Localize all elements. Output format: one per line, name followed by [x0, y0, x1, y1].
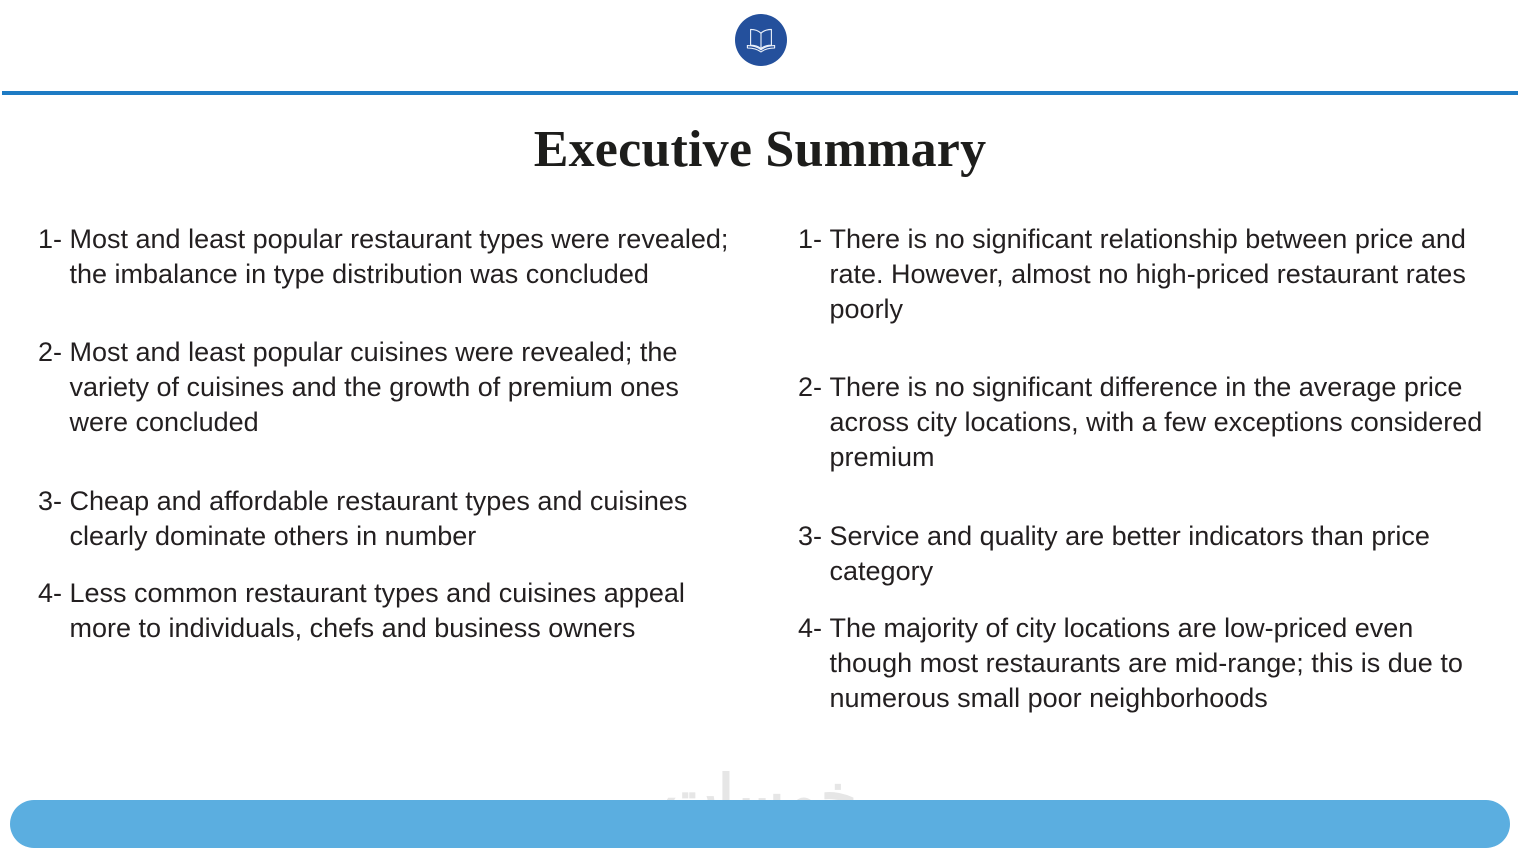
open-book-icon: [735, 14, 787, 66]
slide-header: [0, 0, 1520, 93]
list-item: 2- Most and least popular cuisines were …: [38, 335, 738, 440]
summary-column-right: 1- There is no significant relationship …: [798, 222, 1498, 716]
list-item: 1- Most and least popular restaurant typ…: [38, 222, 738, 292]
list-item: 1- There is no significant relationship …: [798, 222, 1498, 327]
list-item-number: 1-: [38, 222, 70, 257]
page-title: Executive Summary: [0, 118, 1520, 182]
list-item: 4- The majority of city locations are lo…: [798, 611, 1498, 716]
list-item-text: There is no significant difference in th…: [830, 370, 1498, 475]
list-item-number: 4-: [798, 611, 830, 646]
header-divider: [2, 91, 1518, 95]
list-item-text: Cheap and affordable restaurant types an…: [70, 484, 738, 554]
summary-column-left: 1- Most and least popular restaurant typ…: [38, 222, 738, 646]
list-item-text: There is no significant relationship bet…: [830, 222, 1498, 327]
list-item: 3- Cheap and affordable restaurant types…: [38, 484, 738, 554]
list-item-number: 3-: [38, 484, 70, 519]
list-item-number: 4-: [38, 576, 70, 611]
list-item-text: Service and quality are better indicator…: [830, 519, 1498, 589]
list-item: 4- Less common restaurant types and cuis…: [38, 576, 738, 646]
list-item-text: The majority of city locations are low-p…: [830, 611, 1498, 716]
list-item: 3- Service and quality are better indica…: [798, 519, 1498, 589]
list-item-number: 2-: [798, 370, 830, 405]
list-item-number: 2-: [38, 335, 70, 370]
list-item: 2- There is no significant difference in…: [798, 370, 1498, 475]
list-item-text: Most and least popular restaurant types …: [70, 222, 738, 292]
list-item-number: 3-: [798, 519, 830, 554]
list-item-number: 1-: [798, 222, 830, 257]
footer-accent-bar: [10, 800, 1510, 848]
slide-canvas: Executive Summary 1- Most and least popu…: [0, 0, 1520, 848]
summary-columns: 1- Most and least popular restaurant typ…: [0, 222, 1520, 742]
list-item-text: Most and least popular cuisines were rev…: [70, 335, 738, 440]
list-item-text: Less common restaurant types and cuisine…: [70, 576, 738, 646]
